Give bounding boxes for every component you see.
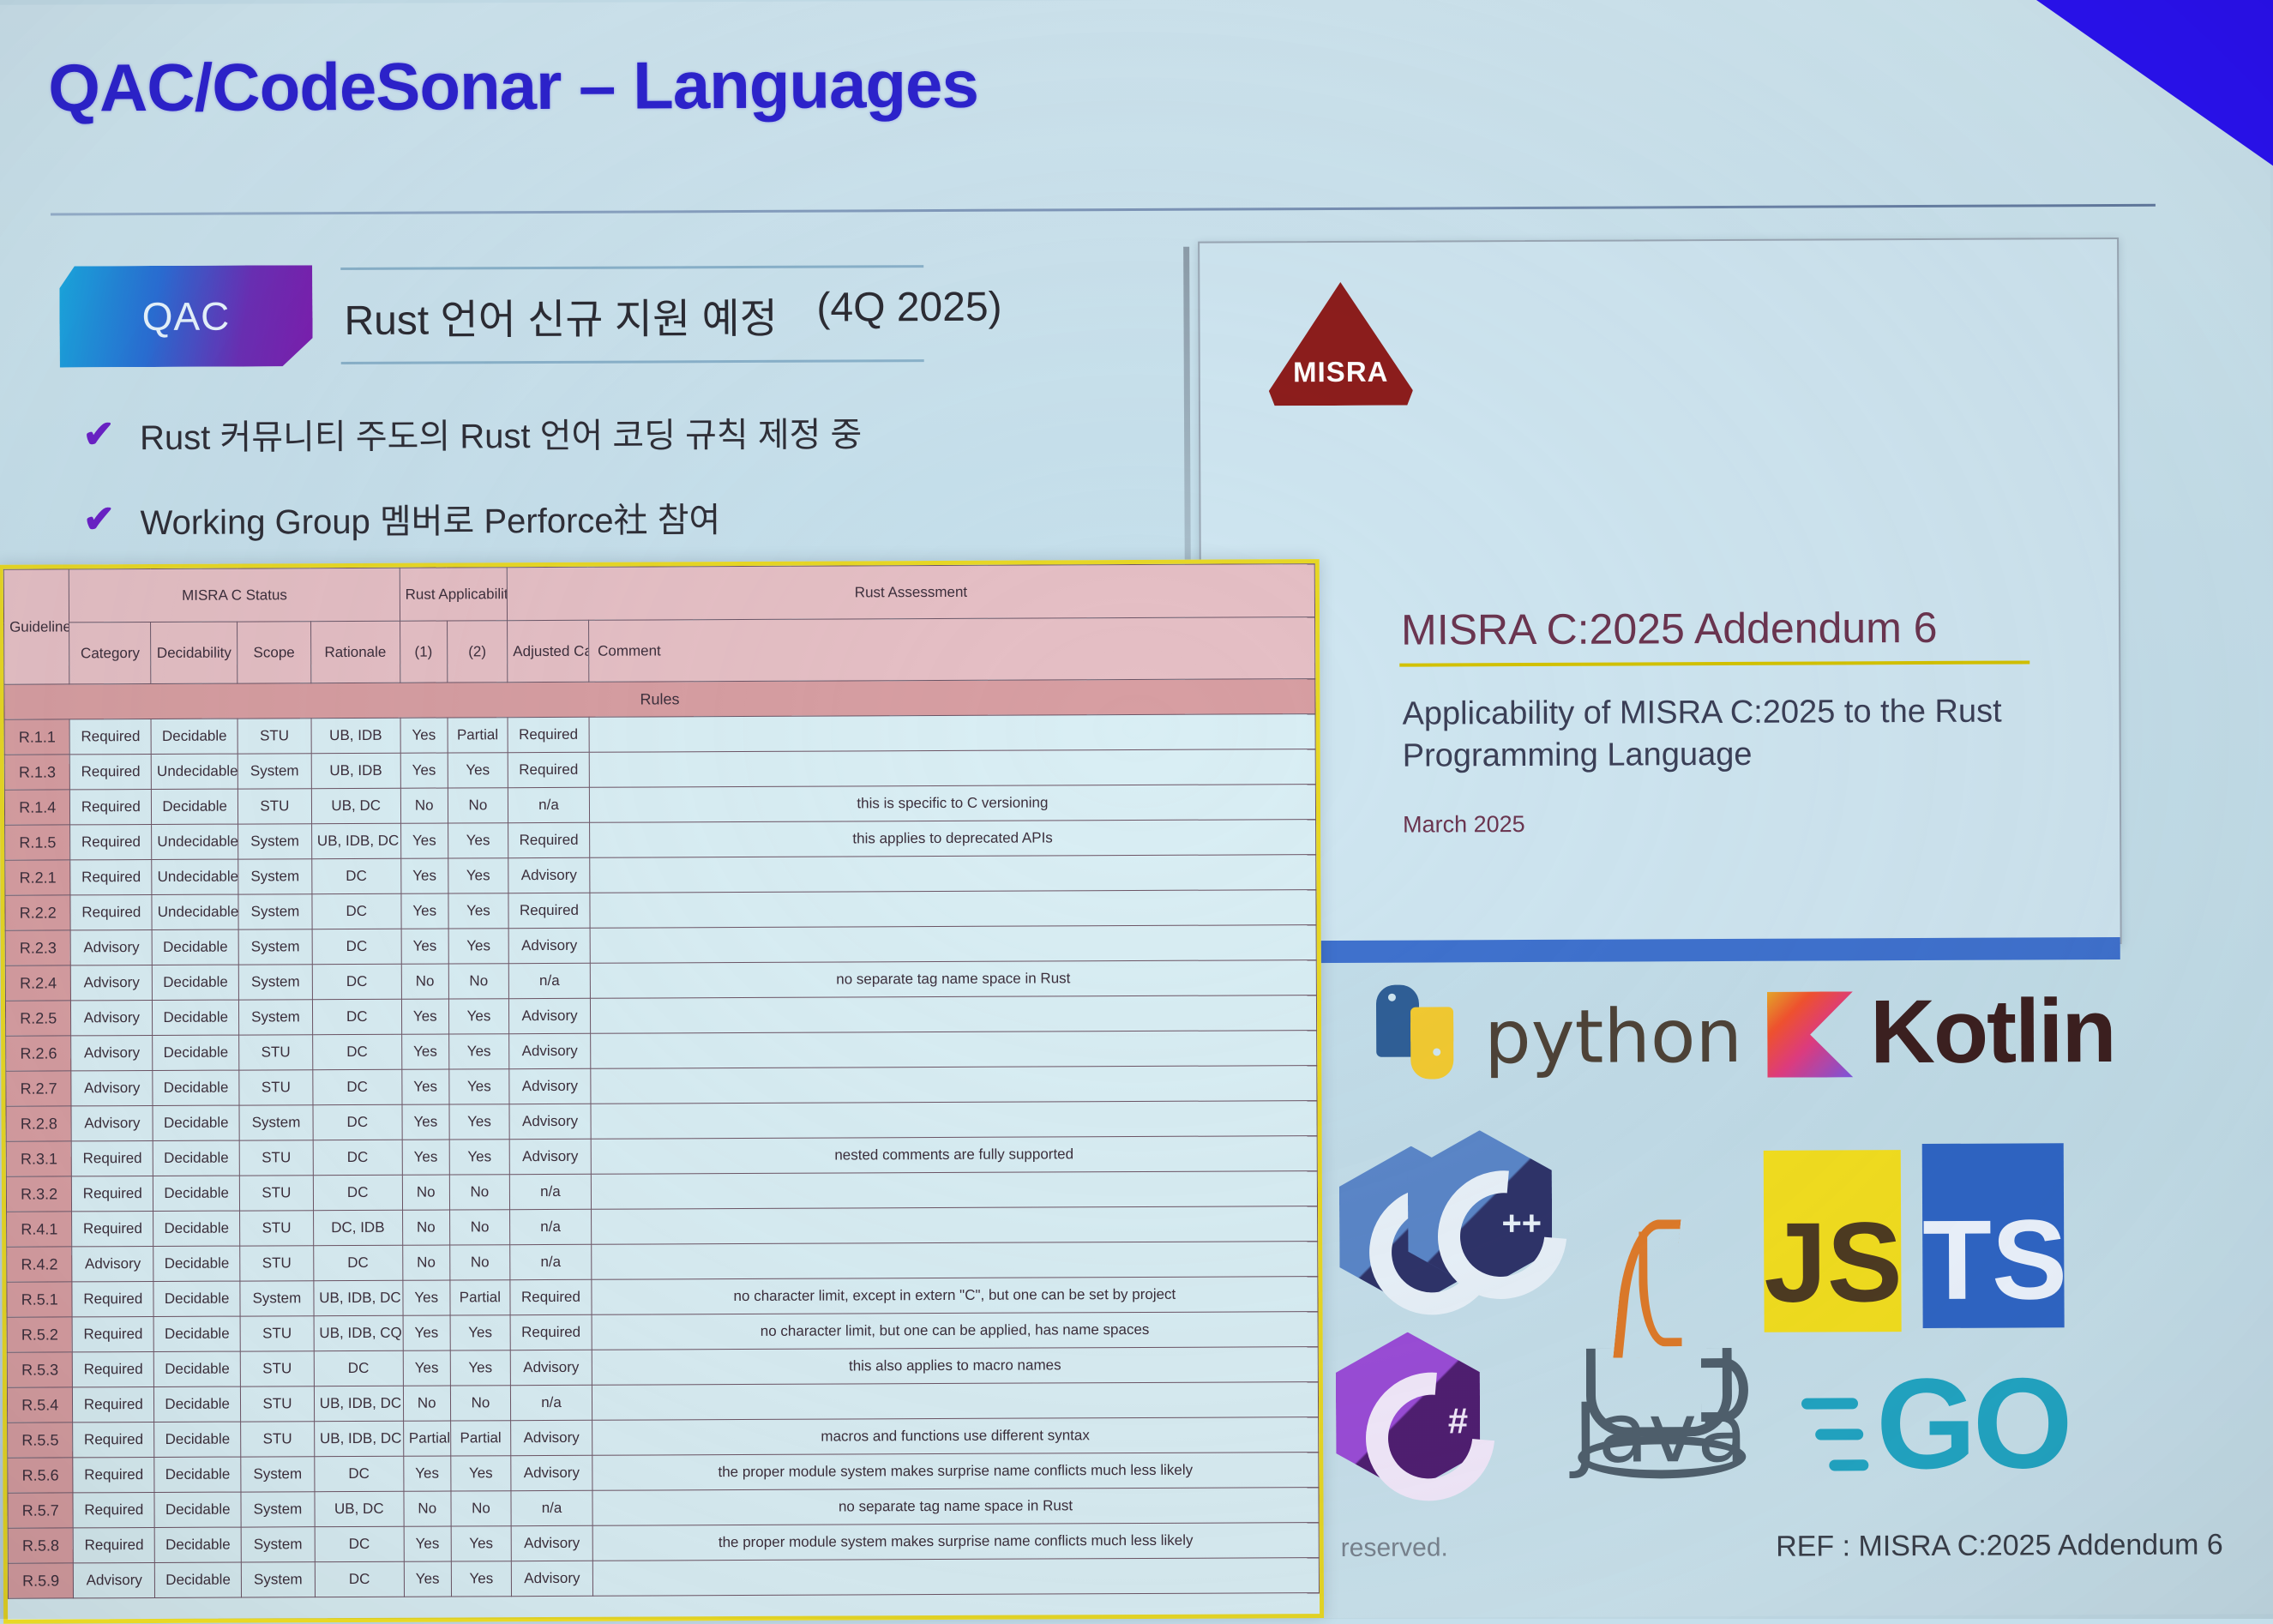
cell-scope: System xyxy=(238,894,312,929)
cell-applicability-2: Yes xyxy=(448,929,509,964)
cell-applicability-2: Yes xyxy=(449,1069,510,1104)
table-row[interactable]: R.1.1RequiredDecidableSTUUB, IDBYesParti… xyxy=(4,714,1315,755)
table-row[interactable]: R.5.1RequiredDecidableSystemUB, IDB, DCY… xyxy=(7,1277,1318,1318)
cell-rationale: UB, DC xyxy=(311,788,400,823)
cpp-plusplus-label: ++ xyxy=(1501,1205,1542,1243)
cell-comment xyxy=(592,1382,1318,1421)
cell-rationale: DC xyxy=(312,1034,401,1069)
cell-scope: System xyxy=(239,1000,313,1035)
guidelines-table: Guideline MISRA C Status Rust Applicabil… xyxy=(3,563,1320,1599)
cell-decidability: Decidable xyxy=(154,1422,241,1457)
cell-decidability: Decidable xyxy=(153,1316,240,1351)
cell-applicability-1: Yes xyxy=(401,1034,448,1069)
cell-applicability-2: No xyxy=(448,964,509,999)
python-bottom-shape xyxy=(1410,1007,1453,1079)
cell-decidability: Decidable xyxy=(153,1035,239,1070)
cell-guideline: R.4.2 xyxy=(7,1247,73,1282)
cell-applicability-1: Yes xyxy=(404,1456,451,1491)
cell-decidability: Decidable xyxy=(153,1070,239,1105)
cell-scope: System xyxy=(238,929,312,965)
cell-rationale: UB, DC xyxy=(315,1491,404,1526)
table-head: Guideline MISRA C Status Rust Applicabil… xyxy=(3,564,1315,685)
go-dash-2 xyxy=(1815,1429,1863,1440)
cell-adjusted-category: Advisory xyxy=(511,1525,592,1561)
table-row[interactable]: R.4.2AdvisoryDecidableSTUDCNoNon/a xyxy=(7,1242,1318,1283)
cell-applicability-1: Yes xyxy=(400,823,448,858)
table-row[interactable]: R.5.2RequiredDecidableSTUUB, IDB, CQYesY… xyxy=(7,1312,1318,1353)
table-row[interactable]: R.3.1RequiredDecidableSTUDCYesYesAdvisor… xyxy=(6,1136,1317,1177)
cell-category: Required xyxy=(73,1493,154,1528)
table-section-label: Rules xyxy=(4,679,1315,720)
cell-adjusted-category: Advisory xyxy=(509,1068,591,1104)
table-row[interactable]: R.4.1RequiredDecidableSTUDC, IDBNoNon/a xyxy=(7,1206,1318,1248)
check-icon: ✔ xyxy=(80,416,117,454)
cell-applicability-2: No xyxy=(448,788,508,823)
cell-guideline: R.3.2 xyxy=(6,1176,72,1212)
cell-category: Required xyxy=(70,825,152,860)
table-row[interactable]: R.2.4AdvisoryDecidableSystemDCNoNon/ano … xyxy=(5,960,1316,1001)
cell-scope: System xyxy=(238,965,312,1000)
cell-rationale: DC xyxy=(312,964,401,999)
cell-rationale: DC xyxy=(315,1526,404,1561)
cell-category: Required xyxy=(72,1141,153,1176)
go-dash-1 xyxy=(1801,1398,1858,1409)
cell-adjusted-category: Advisory xyxy=(508,928,590,963)
cell-applicability-1: No xyxy=(402,1210,449,1245)
table-row[interactable]: R.5.9AdvisoryDecidableSystemDCYesYesAdvi… xyxy=(8,1558,1319,1599)
qac-heading-rule-bottom xyxy=(341,359,924,364)
cell-comment xyxy=(590,995,1316,1034)
table-row[interactable]: R.5.8RequiredDecidableSystemDCYesYesAdvi… xyxy=(8,1523,1319,1564)
cell-comment xyxy=(589,714,1315,753)
misra-logo-icon: MISRA xyxy=(1268,282,1413,406)
cell-guideline: R.5.4 xyxy=(7,1387,73,1423)
cell-decidability: Decidable xyxy=(155,1562,242,1597)
cell-applicability-1: No xyxy=(404,1491,451,1526)
table-row[interactable]: R.1.4RequiredDecidableSTUUB, DCNoNon/ath… xyxy=(4,785,1315,826)
python-logo-icon xyxy=(1373,984,1467,1079)
cell-adjusted-category: Advisory xyxy=(511,1420,592,1455)
misra-logo-label: MISRA xyxy=(1269,356,1413,389)
cell-guideline: R.1.5 xyxy=(5,825,71,860)
cell-applicability-2: Yes xyxy=(448,893,509,929)
cell-comment xyxy=(590,855,1316,893)
qac-badge-label: QAC xyxy=(142,293,231,340)
cell-rationale: DC xyxy=(313,1175,402,1210)
cell-scope: STU xyxy=(241,1422,315,1457)
table-header-row: Category Decidability Scope Rationale (1… xyxy=(4,617,1315,685)
document-subtitle: Applicability of MISRA C:2025 to the Rus… xyxy=(1402,691,2019,779)
cell-comment xyxy=(590,890,1316,929)
cell-applicability-2: No xyxy=(449,1245,510,1280)
cell-rationale: UB, IDB xyxy=(311,753,400,788)
cell-guideline: R.5.6 xyxy=(8,1458,74,1493)
table-section-row: Rules xyxy=(4,679,1315,720)
cell-decidability: Undecidable xyxy=(152,894,238,929)
cell-adjusted-category: n/a xyxy=(511,1385,592,1420)
cell-scope: System xyxy=(239,1105,313,1140)
cell-applicability-1: Yes xyxy=(401,893,448,929)
cell-guideline: R.2.8 xyxy=(6,1106,72,1141)
cell-category: Advisory xyxy=(71,1001,153,1036)
cell-comment: no character limit, except in extern "C"… xyxy=(592,1277,1318,1315)
table-row[interactable]: R.5.4RequiredDecidableSTUUB, IDB, DCNoNo… xyxy=(7,1382,1318,1423)
cell-category: Required xyxy=(72,1212,153,1247)
cell-comment: nested comments are fully supported xyxy=(591,1136,1317,1175)
cell-guideline: R.2.7 xyxy=(6,1071,72,1106)
table-row[interactable]: R.5.3RequiredDecidableSTUDCYesYesAdvisor… xyxy=(7,1347,1318,1388)
kotlin-logo-icon xyxy=(1767,991,1853,1077)
cell-decidability: Decidable xyxy=(153,1140,239,1176)
bullet-item-1: ✔ Rust 커뮤니티 주도의 Rust 언어 코딩 규칙 제정 중 xyxy=(80,406,862,460)
cell-applicability-1: Yes xyxy=(404,1526,451,1561)
col-group-misra-c-status: MISRA C Status xyxy=(69,568,400,623)
cell-applicability-2: Yes xyxy=(451,1526,512,1561)
cell-decidability: Undecidable xyxy=(151,754,238,789)
col-scope: Scope xyxy=(238,622,311,683)
cell-decidability: Decidable xyxy=(151,719,238,754)
cell-guideline: R.2.5 xyxy=(5,1001,71,1036)
cell-rationale: UB, IDB, DC xyxy=(314,1386,403,1421)
cell-decidability: Decidable xyxy=(154,1457,241,1492)
cell-applicability-2: Partial xyxy=(450,1280,511,1315)
col-group-guideline: Guideline xyxy=(3,569,69,684)
table-row[interactable]: R.1.5RequiredUndecidableSystemUB, IDB, D… xyxy=(5,820,1316,861)
cell-scope: STU xyxy=(238,719,311,754)
cell-category: Required xyxy=(74,1528,155,1563)
rust-applicability-table[interactable]: Guideline MISRA C Status Rust Applicabil… xyxy=(0,559,1324,1624)
cell-applicability-1: Yes xyxy=(402,1069,449,1104)
typescript-logo-icon: TS xyxy=(1922,1143,2065,1328)
col-category: Category xyxy=(69,623,151,684)
col-adjusted-category: Adjusted Category xyxy=(508,620,589,682)
cell-decidability: Decidable xyxy=(154,1527,241,1562)
cell-category: Advisory xyxy=(71,1036,153,1071)
cell-comment: no character limit, but one can be appli… xyxy=(592,1312,1318,1350)
cell-category: Required xyxy=(72,1282,153,1317)
cell-decidability: Decidable xyxy=(153,1105,239,1140)
javascript-logo-icon: JS xyxy=(1764,1150,1902,1332)
cell-category: Required xyxy=(73,1317,154,1352)
cell-adjusted-category: Required xyxy=(508,717,589,752)
cell-category: Required xyxy=(70,895,152,930)
cell-decidability: Decidable xyxy=(153,1246,240,1281)
cell-rationale: DC xyxy=(312,929,401,964)
cell-applicability-1: Yes xyxy=(404,1561,451,1597)
cell-category: Required xyxy=(69,719,151,755)
cell-applicability-2: Yes xyxy=(448,753,508,788)
table-row[interactable]: R.2.3AdvisoryDecidableSystemDCYesYesAdvi… xyxy=(5,925,1316,966)
cell-scope: System xyxy=(241,1527,315,1562)
cell-adjusted-category: n/a xyxy=(510,1209,592,1244)
python-eye-dot-2 xyxy=(1433,1048,1440,1056)
cell-applicability-2: Partial xyxy=(448,718,508,753)
cell-scope: STU xyxy=(240,1351,314,1386)
cell-adjusted-category: Advisory xyxy=(511,1455,592,1490)
cell-applicability-1: Yes xyxy=(401,999,448,1034)
cell-guideline: R.5.5 xyxy=(8,1423,74,1458)
slide-canvas: QAC/CodeSonar – Languages QAC Rust 언어 신규… xyxy=(0,0,2273,1624)
cell-applicability-1: Yes xyxy=(403,1280,450,1315)
cell-guideline: R.2.3 xyxy=(5,930,71,965)
cell-adjusted-category: Advisory xyxy=(509,998,591,1033)
cell-guideline: R.1.3 xyxy=(4,755,70,790)
qac-quarter-text: (4Q 2025) xyxy=(816,284,1001,332)
cell-category: Required xyxy=(72,1176,153,1212)
cell-applicability-2: Yes xyxy=(449,1140,510,1175)
cell-rationale: DC xyxy=(315,1456,404,1491)
cell-rationale: UB, IDB, DC xyxy=(311,823,400,858)
col-group-rust-applicability: Rust Applicability xyxy=(400,568,508,622)
footer-reserved-text: reserved. xyxy=(1341,1533,1448,1563)
bullet-item-2: ✔ Working Group 멤버로 Perforce社 참여 xyxy=(80,492,720,544)
cell-scope: STU xyxy=(239,1176,313,1211)
cell-applicability-2: No xyxy=(450,1386,511,1421)
cell-adjusted-category: Advisory xyxy=(508,857,590,893)
qac-badge: QAC xyxy=(59,265,313,367)
cell-scope: System xyxy=(241,1562,315,1597)
cell-category: Advisory xyxy=(71,965,153,1001)
title-divider xyxy=(51,204,2156,216)
cell-rationale: DC xyxy=(314,1350,403,1386)
cell-comment xyxy=(591,1066,1317,1104)
cell-comment xyxy=(592,1558,1319,1597)
cell-comment: no separate tag name space in Rust xyxy=(592,1488,1319,1526)
cell-adjusted-category: Required xyxy=(508,893,590,928)
cell-decidability: Decidable xyxy=(153,965,239,1000)
cell-decidability: Decidable xyxy=(153,1211,240,1246)
cpp-logo-icon: ++ xyxy=(1408,1130,1553,1292)
cell-comment: the proper module system makes surprise … xyxy=(592,1523,1319,1561)
cell-rationale: UB, IDB, CQ xyxy=(314,1315,403,1350)
cell-scope: System xyxy=(240,1281,314,1316)
table-row[interactable]: R.2.5AdvisoryDecidableSystemDCYesYesAdvi… xyxy=(5,995,1316,1037)
cell-guideline: R.2.6 xyxy=(6,1036,72,1071)
typescript-logo-label: TS xyxy=(1922,1194,2065,1325)
col-applicability-2: (2) xyxy=(447,621,508,683)
cell-applicability-1: Yes xyxy=(401,929,448,964)
csharp-logo-icon: # xyxy=(1336,1332,1481,1494)
cell-category: Required xyxy=(70,790,152,825)
cell-category: Advisory xyxy=(72,1247,153,1282)
qac-heading-rule-top xyxy=(340,265,923,270)
cell-applicability-1: Yes xyxy=(400,753,448,788)
javascript-logo-label: JS xyxy=(1764,1197,1902,1327)
cell-applicability-2: Partial xyxy=(450,1421,511,1456)
cell-applicability-2: Yes xyxy=(451,1456,512,1491)
table-row[interactable]: R.5.7RequiredDecidableSystemUB, DCNoNon/… xyxy=(8,1488,1319,1529)
cell-adjusted-category: Advisory xyxy=(509,1033,591,1068)
bullet-label-2: Working Group 멤버로 Perforce社 참여 xyxy=(140,492,720,544)
cell-applicability-1: No xyxy=(402,1245,449,1280)
cell-applicability-1: No xyxy=(402,1175,449,1210)
cell-adjusted-category: n/a xyxy=(509,1174,591,1209)
cell-rationale: DC xyxy=(313,1104,402,1140)
cell-scope: STU xyxy=(238,789,312,824)
cell-adjusted-category: n/a xyxy=(508,963,590,998)
document-date: March 2025 xyxy=(1403,811,1525,839)
table-row[interactable]: R.2.1RequiredUndecidableSystemDCYesYesAd… xyxy=(5,855,1316,896)
go-logo-label: GO xyxy=(1876,1349,2070,1498)
cell-category: Required xyxy=(73,1352,154,1387)
cell-comment: no separate tag name space in Rust xyxy=(590,960,1316,999)
cell-comment: this applies to deprecated APIs xyxy=(589,820,1315,858)
cell-category: Advisory xyxy=(74,1563,155,1598)
cell-scope: STU xyxy=(241,1386,315,1422)
cell-rationale: DC xyxy=(313,1069,402,1104)
cell-guideline: R.2.1 xyxy=(5,860,71,895)
cell-adjusted-category: Advisory xyxy=(511,1561,592,1596)
cell-applicability-2: Yes xyxy=(451,1561,512,1597)
cell-applicability-1: No xyxy=(401,964,448,999)
table-group-header-row: Guideline MISRA C Status Rust Applicabil… xyxy=(3,564,1314,623)
cell-decidability: Decidable xyxy=(152,929,238,965)
cell-applicability-1: Yes xyxy=(402,1140,449,1175)
cell-decidability: Undecidable xyxy=(152,859,238,894)
cell-decidability: Undecidable xyxy=(152,824,238,859)
table-row[interactable]: R.2.6AdvisoryDecidableSTUDCYesYesAdvisor… xyxy=(6,1031,1317,1072)
cell-rationale: DC xyxy=(312,999,401,1034)
cell-adjusted-category: Advisory xyxy=(509,1104,591,1139)
cell-applicability-1: No xyxy=(400,788,448,823)
cell-applicability-1: Yes xyxy=(403,1350,450,1386)
page-title: QAC/CodeSonar – Languages xyxy=(48,45,978,128)
cell-rationale: UB, IDB xyxy=(311,718,400,753)
python-eye-dot xyxy=(1388,994,1396,1001)
col-decidability: Decidability xyxy=(151,622,238,683)
cell-category: Required xyxy=(73,1458,154,1493)
footer-reference: REF : MISRA C:2025 Addendum 6 xyxy=(1776,1528,2223,1563)
table-row[interactable]: R.3.2RequiredDecidableSTUDCNoNon/a xyxy=(6,1171,1317,1212)
cell-adjusted-category: Required xyxy=(508,822,590,857)
cell-applicability-2: No xyxy=(451,1491,512,1526)
cell-comment xyxy=(592,1242,1318,1280)
cell-category: Required xyxy=(73,1387,154,1423)
go-dash-3 xyxy=(1829,1459,1868,1471)
cell-applicability-2: Yes xyxy=(448,858,508,893)
cell-comment: the proper module system makes surprise … xyxy=(592,1453,1319,1491)
cell-applicability-1: Yes xyxy=(402,1104,449,1140)
cell-scope: System xyxy=(238,824,312,859)
cell-scope: STU xyxy=(239,1140,313,1176)
cell-decidability: Decidable xyxy=(154,1492,241,1527)
misra-document-bottom-bar xyxy=(1201,937,2120,964)
table-row[interactable]: R.2.7AdvisoryDecidableSTUDCYesYesAdvisor… xyxy=(6,1066,1317,1107)
cell-guideline: R.5.9 xyxy=(8,1563,74,1598)
cell-scope: System xyxy=(238,754,311,789)
cell-adjusted-category: Required xyxy=(510,1279,592,1314)
cell-rationale: UB, IDB, DC xyxy=(314,1421,403,1456)
cell-applicability-2: Yes xyxy=(450,1350,511,1386)
cell-guideline: R.1.1 xyxy=(4,719,70,755)
corner-triangle-decoration xyxy=(2026,0,2273,168)
cell-adjusted-category: n/a xyxy=(508,787,589,822)
qac-heading-text: Rust 언어 신규 지원 예정 xyxy=(344,285,778,346)
cell-guideline: R.5.3 xyxy=(7,1352,73,1387)
cell-guideline: R.5.7 xyxy=(8,1493,74,1528)
cell-category: Required xyxy=(73,1423,154,1458)
cell-scope: STU xyxy=(240,1211,314,1246)
cell-applicability-1: No xyxy=(403,1386,450,1421)
col-group-rust-assessment: Rust Assessment xyxy=(507,564,1314,621)
cell-scope: STU xyxy=(239,1070,313,1105)
cell-guideline: R.5.8 xyxy=(8,1528,74,1563)
csharp-hash-label: # xyxy=(1448,1400,1469,1441)
col-rationale: Rationale xyxy=(310,621,400,683)
cell-comment xyxy=(591,1171,1317,1210)
cell-decidability: Decidable xyxy=(154,1386,241,1422)
cell-applicability-1: Yes xyxy=(403,1315,450,1350)
cell-rationale: DC xyxy=(313,1245,402,1280)
kotlin-logo-label: Kotlin xyxy=(1870,980,2115,1084)
cell-scope: STU xyxy=(239,1035,313,1070)
col-applicability-1: (1) xyxy=(400,621,447,683)
cell-guideline: R.5.1 xyxy=(7,1282,73,1317)
cell-rationale: DC xyxy=(311,858,400,893)
table-row[interactable]: R.2.8AdvisoryDecidableSystemDCYesYesAdvi… xyxy=(6,1101,1317,1142)
document-title: MISRA C:2025 Addendum 6 xyxy=(1401,603,1938,655)
cell-decidability: Decidable xyxy=(152,789,238,824)
check-icon: ✔ xyxy=(80,501,117,538)
python-logo-label: python xyxy=(1484,994,1742,1080)
cell-comment xyxy=(591,1101,1317,1140)
cell-adjusted-category: n/a xyxy=(511,1490,592,1525)
cell-comment: this is specific to C versioning xyxy=(589,785,1315,823)
cell-applicability-1: Partial xyxy=(403,1421,450,1456)
cell-decidability: Decidable xyxy=(153,1000,239,1035)
table-row[interactable]: R.5.5RequiredDecidableSTUUB, IDB, DCPart… xyxy=(8,1417,1319,1459)
cell-guideline: R.1.4 xyxy=(4,790,70,825)
cell-scope: System xyxy=(241,1457,315,1492)
cell-decidability: Decidable xyxy=(153,1281,240,1316)
cell-rationale: DC xyxy=(312,893,401,929)
cell-guideline: R.5.2 xyxy=(7,1317,73,1352)
cell-category: Advisory xyxy=(71,930,153,965)
table-row[interactable]: R.2.2RequiredUndecidableSystemDCYesYesRe… xyxy=(5,890,1316,931)
cell-category: Required xyxy=(70,860,152,895)
cell-applicability-1: Yes xyxy=(400,858,448,893)
cell-comment xyxy=(590,925,1316,964)
cell-applicability-2: No xyxy=(449,1175,510,1210)
cell-rationale: DC xyxy=(315,1561,404,1597)
cell-adjusted-category: n/a xyxy=(510,1244,592,1279)
cell-scope: System xyxy=(241,1492,315,1527)
cell-guideline: R.2.2 xyxy=(5,895,71,930)
cell-applicability-2: Yes xyxy=(448,823,508,858)
cell-comment: macros and functions use different synta… xyxy=(592,1417,1318,1456)
cell-rationale: DC, IDB xyxy=(313,1210,402,1245)
cell-comment xyxy=(591,1031,1317,1069)
table-row[interactable]: R.1.3RequiredUndecidableSystemUB, IDBYes… xyxy=(4,749,1315,791)
cell-applicability-2: Yes xyxy=(448,999,509,1034)
cell-category: Advisory xyxy=(71,1106,153,1141)
cell-adjusted-category: Advisory xyxy=(509,1139,591,1174)
cell-decidability: Decidable xyxy=(153,1176,240,1211)
cell-comment: this also applies to macro names xyxy=(592,1347,1318,1386)
table-row[interactable]: R.5.6RequiredDecidableSystemDCYesYesAdvi… xyxy=(8,1453,1319,1494)
col-comment: Comment xyxy=(588,617,1314,683)
cell-rationale: DC xyxy=(313,1140,402,1175)
bullet-label-1: Rust 커뮤니티 주도의 Rust 언어 코딩 규칙 제정 중 xyxy=(140,406,862,460)
cell-decidability: Decidable xyxy=(153,1351,240,1386)
cell-comment xyxy=(591,1206,1317,1245)
cell-comment xyxy=(589,749,1315,788)
cell-adjusted-category: Required xyxy=(508,752,589,787)
cell-applicability-1: Yes xyxy=(400,718,448,753)
cell-guideline: R.4.1 xyxy=(7,1212,73,1247)
table-body: RulesR.1.1RequiredDecidableSTUUB, IDBYes… xyxy=(4,679,1320,1599)
java-logo-label: Java xyxy=(1573,1385,1747,1482)
